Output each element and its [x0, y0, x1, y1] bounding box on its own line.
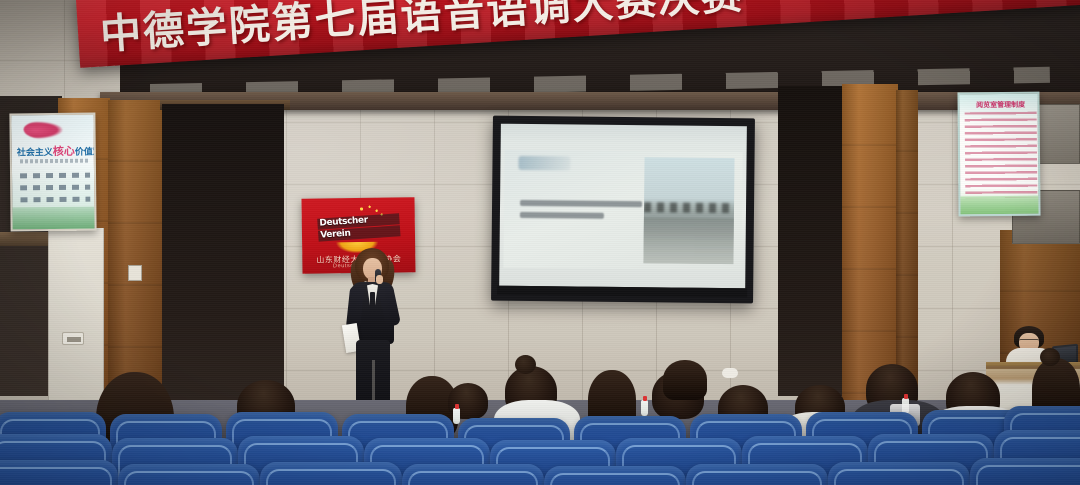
audience-head	[663, 360, 707, 400]
poster-title-prefix: 社会主义	[17, 148, 53, 158]
hair-clip-icon	[722, 368, 738, 378]
stage-side-opening	[162, 104, 284, 400]
poster-subtitle-lines	[20, 159, 90, 164]
poster-emblem-icon	[23, 121, 63, 139]
wood-panel-right-b	[896, 90, 918, 402]
seat[interactable]	[970, 458, 1080, 485]
seat[interactable]	[118, 464, 260, 485]
slide-logo-icon	[518, 156, 570, 171]
audience-hair-bun	[1040, 348, 1060, 366]
poster-title-highlight: 核心	[53, 145, 75, 158]
seat[interactable]	[686, 464, 828, 485]
poster-right-text-block	[965, 112, 1038, 199]
water-bottle	[641, 400, 648, 416]
auditorium-photo: 社会主义核心价值观 阅览室管理制度 Deutscher Verein	[0, 0, 1080, 485]
wood-panel-right-a	[842, 84, 898, 402]
poster-right-title: 阅览室管理制度	[964, 100, 1038, 111]
slide-text-line-1	[520, 200, 642, 207]
wood-panel-left-inner	[108, 100, 166, 398]
light-switch[interactable]	[128, 265, 142, 281]
slide-text-line-2	[520, 212, 604, 219]
audience-hair-bun	[515, 355, 536, 374]
seat[interactable]	[828, 462, 970, 485]
glasses-icon	[1019, 339, 1039, 344]
power-outlet[interactable]	[62, 332, 84, 345]
seat[interactable]	[402, 464, 544, 485]
speaker-tie	[370, 292, 375, 307]
seat[interactable]	[260, 462, 402, 485]
right-doorway[interactable]	[778, 86, 848, 396]
seat[interactable]	[0, 460, 118, 485]
water-bottle	[453, 408, 460, 424]
projection-screen	[491, 116, 755, 304]
socialist-core-values-poster: 社会主义核心价值观	[9, 113, 96, 232]
slide-photo-cityscape	[643, 157, 734, 264]
poster-right-footer	[960, 196, 1038, 215]
wall-strip-left	[48, 228, 104, 400]
screen-surface	[499, 124, 747, 289]
slide-content	[503, 150, 742, 270]
poster-value-row-1	[20, 173, 90, 179]
speaker-hand-holding-mic	[376, 275, 383, 284]
poster-value-row-2	[20, 185, 90, 191]
poster-title-suffix: 价值观	[75, 147, 97, 157]
regulations-poster: 阅览室管理制度	[957, 92, 1040, 217]
poster-footer-landscape	[12, 207, 94, 230]
seat[interactable]	[544, 466, 686, 485]
deutscher-verein-wordmark: Deutscher Verein	[317, 213, 400, 242]
poster-left-title: 社会主义核心价值观	[17, 143, 93, 160]
poster-value-row-3	[20, 197, 90, 203]
